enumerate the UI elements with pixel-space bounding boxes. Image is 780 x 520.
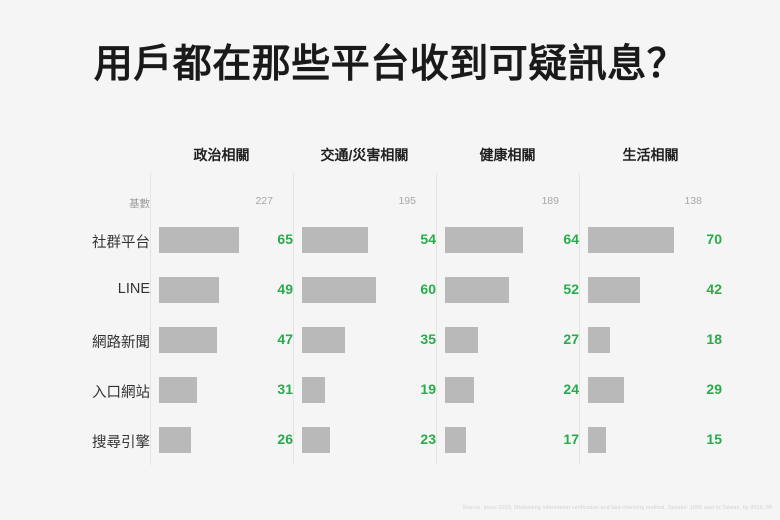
row-label-column: 基數 社群平台 LINE 網路新聞 入口網站 搜尋引擎: [55, 145, 150, 475]
bar-1-0: [302, 227, 368, 253]
bar-0-2: [159, 327, 217, 353]
source-note: Source: Ipsos 2019, Misleading informati…: [0, 505, 772, 511]
bar-value-0-4: 26: [267, 431, 293, 447]
bar-value-0-0: 65: [267, 231, 293, 247]
bar-value-2-4: 17: [553, 431, 579, 447]
bar-2-0: [445, 227, 523, 253]
bar-value-2-1: 52: [553, 281, 579, 297]
bar-value-3-2: 18: [696, 331, 722, 347]
series-divider-2: [436, 173, 437, 465]
series-base-3: 138: [579, 195, 702, 207]
bar-row-1-1: 60: [302, 277, 436, 303]
bar-1-2: [302, 327, 345, 353]
bar-row-2-3: 24: [445, 377, 579, 403]
row-label-0: 社群平台: [55, 231, 150, 252]
bar-row-2-0: 64: [445, 227, 579, 253]
bar-row-3-1: 42: [588, 277, 722, 303]
bar-value-3-3: 29: [696, 381, 722, 397]
bar-row-3-2: 18: [588, 327, 722, 353]
row-label-3: 入口網站: [55, 381, 150, 402]
bar-value-2-0: 64: [553, 231, 579, 247]
bar-row-3-0: 70: [588, 227, 722, 253]
bar-0-3: [159, 377, 197, 403]
series-header-2: 健康相關: [436, 145, 579, 165]
row-label-2: 網路新聞: [55, 331, 150, 352]
bar-row-2-4: 17: [445, 427, 579, 453]
bar-1-1: [302, 277, 376, 303]
series-group-1: 交通/災害相關 195 54 60 35 19 23: [293, 145, 436, 475]
bar-row-1-4: 23: [302, 427, 436, 453]
bar-row-0-2: 47: [159, 327, 293, 353]
bar-row-0-3: 31: [159, 377, 293, 403]
series-group-3: 生活相關 138 70 42 18 29 15: [579, 145, 722, 475]
series-divider-0: [150, 173, 151, 465]
bar-0-1: [159, 277, 219, 303]
bar-3-3: [588, 377, 624, 403]
bar-value-1-0: 54: [410, 231, 436, 247]
bar-1-3: [302, 377, 325, 403]
bar-0-4: [159, 427, 191, 453]
bar-value-1-4: 23: [410, 431, 436, 447]
chart-grid: 基數 社群平台 LINE 網路新聞 入口網站 搜尋引擎 政治相關 227 65 …: [55, 145, 727, 475]
base-row-label: 基數: [55, 196, 150, 211]
bar-value-3-4: 15: [696, 431, 722, 447]
bar-value-1-3: 19: [410, 381, 436, 397]
bar-2-2: [445, 327, 478, 353]
bar-row-0-4: 26: [159, 427, 293, 453]
series-base-0: 227: [150, 195, 273, 207]
series-base-1: 195: [293, 195, 416, 207]
bar-value-2-2: 27: [553, 331, 579, 347]
bar-3-2: [588, 327, 610, 353]
bar-2-1: [445, 277, 509, 303]
bar-value-0-2: 47: [267, 331, 293, 347]
bar-value-0-3: 31: [267, 381, 293, 397]
series-header-1: 交通/災害相關: [293, 145, 436, 165]
page-title: 用戶都在那些平台收到可疑訊息？: [0, 44, 780, 87]
bar-row-2-1: 52: [445, 277, 579, 303]
series-group-2: 健康相關 189 64 52 27 24 17: [436, 145, 579, 475]
bar-row-1-2: 35: [302, 327, 436, 353]
bar-value-2-3: 24: [553, 381, 579, 397]
bar-row-1-0: 54: [302, 227, 436, 253]
series-base-2: 189: [436, 195, 559, 207]
series-divider-3: [579, 173, 580, 465]
bar-0-0: [159, 227, 239, 253]
bar-3-0: [588, 227, 674, 253]
slide-canvas: 用戶都在那些平台收到可疑訊息？ 基數 社群平台 LINE 網路新聞 入口網站 搜…: [0, 0, 780, 520]
bar-1-4: [302, 427, 330, 453]
bar-2-4: [445, 427, 466, 453]
bar-value-3-0: 70: [696, 231, 722, 247]
series-group-0: 政治相關 227 65 49 47 31 26: [150, 145, 293, 475]
bar-value-1-2: 35: [410, 331, 436, 347]
bar-row-3-4: 15: [588, 427, 722, 453]
bar-2-3: [445, 377, 474, 403]
bar-row-3-3: 29: [588, 377, 722, 403]
bar-row-0-1: 49: [159, 277, 293, 303]
bar-3-4: [588, 427, 606, 453]
series-header-0: 政治相關: [150, 145, 293, 165]
bar-3-1: [588, 277, 640, 303]
bar-value-0-1: 49: [267, 281, 293, 297]
bar-value-3-1: 42: [696, 281, 722, 297]
bar-row-2-2: 27: [445, 327, 579, 353]
bar-row-1-3: 19: [302, 377, 436, 403]
bar-value-1-1: 60: [410, 281, 436, 297]
series-divider-1: [293, 173, 294, 465]
row-label-1: LINE: [55, 281, 150, 297]
series-header-3: 生活相關: [579, 145, 722, 165]
bar-row-0-0: 65: [159, 227, 293, 253]
row-label-4: 搜尋引擎: [55, 431, 150, 452]
